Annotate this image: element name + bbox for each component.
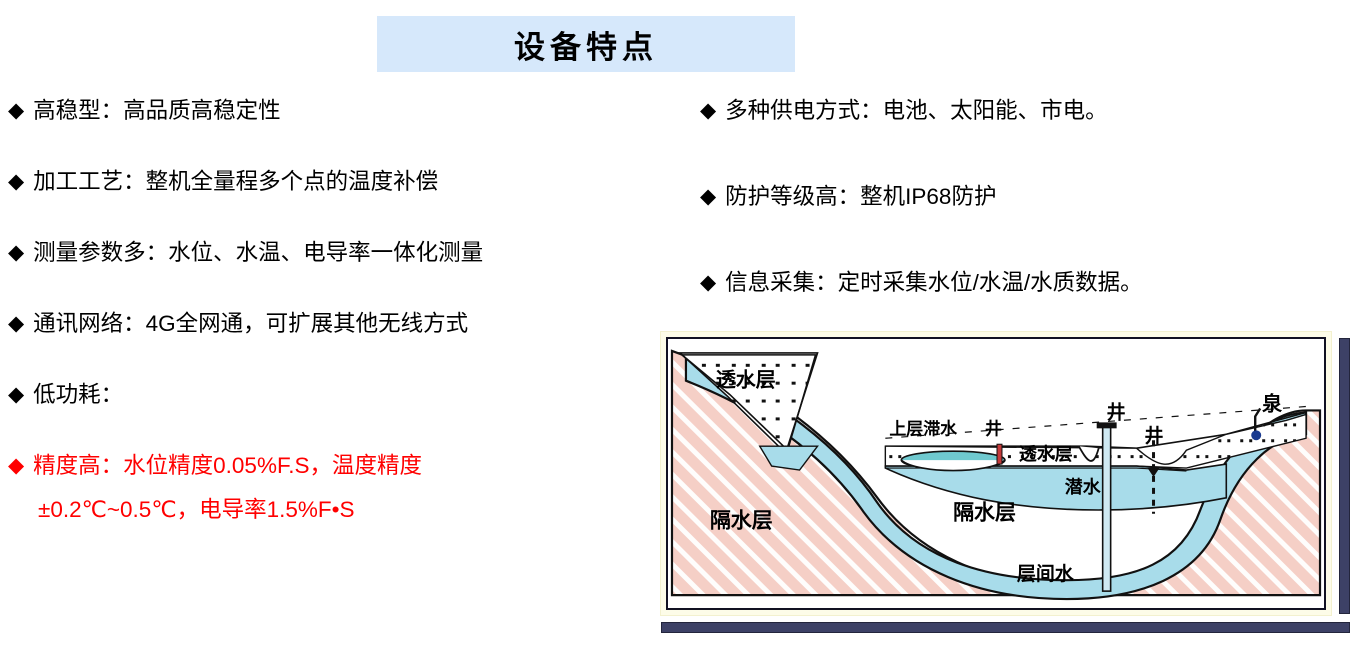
bullet-item-highlight: ◆ 精度高：水位精度0.05%F.S，温度精度 bbox=[8, 451, 658, 481]
label-well-right: 井 bbox=[1145, 425, 1164, 447]
diamond-bullet-icon: ◆ bbox=[8, 96, 24, 126]
label-aquiclude-mid: 隔水层 bbox=[953, 501, 1016, 525]
right-bullet-column: ◆ 多种供电方式：电池、太阳能、市电。 ◆ 防护等级高：整机IP68防护 ◆ 信… bbox=[700, 96, 1350, 354]
diagram-bottom-accent-bar bbox=[661, 622, 1350, 633]
groundwater-diagram: 透水层 上层滞水 井 透水层 潜水 井 井 泉 隔水层 隔水层 层间水 bbox=[666, 337, 1326, 610]
bullet-label: 测量参数多：水位、水温、电导率一体化测量 bbox=[33, 238, 483, 268]
bullet-label: 通讯网络：4G全网通，可扩展其他无线方式 bbox=[33, 309, 468, 339]
label-interlayer-water: 层间水 bbox=[1017, 563, 1075, 585]
diamond-bullet-icon: ◆ bbox=[700, 96, 716, 126]
diamond-bullet-icon: ◆ bbox=[8, 238, 24, 268]
bullet-item: ◆ 防护等级高：整机IP68防护 bbox=[700, 182, 1350, 212]
label-spring: 泉 bbox=[1261, 393, 1283, 416]
bullet-label: 信息采集：定时采集水位/水温/水质数据。 bbox=[725, 268, 1143, 298]
label-permeable-mid: 透水层 bbox=[1019, 443, 1073, 465]
label-well-left: 井 bbox=[985, 418, 1002, 438]
bullet-continuation-label: ±0.2℃~0.5℃，电导率1.5%F•S bbox=[38, 495, 658, 525]
bullet-item: ◆ 高稳型：高品质高稳定性 bbox=[8, 96, 658, 126]
diamond-bullet-icon: ◆ bbox=[700, 268, 716, 298]
label-perched-water: 上层滞水 bbox=[889, 418, 958, 438]
bullet-label: 加工工艺：整机全量程多个点的温度补偿 bbox=[33, 167, 438, 197]
groundwater-diagram-frame: 透水层 上层滞水 井 透水层 潜水 井 井 泉 隔水层 隔水层 层间水 bbox=[660, 331, 1332, 616]
bullet-label: 防护等级高：整机IP68防护 bbox=[725, 182, 996, 212]
slide-root: 设备特点 ◆ 高稳型：高品质高稳定性 ◆ 加工工艺：整机全量程多个点的温度补偿 … bbox=[0, 0, 1368, 648]
bullet-item: ◆ 通讯网络：4G全网通，可扩展其他无线方式 bbox=[8, 309, 658, 339]
left-bullet-column: ◆ 高稳型：高品质高稳定性 ◆ 加工工艺：整机全量程多个点的温度补偿 ◆ 测量参… bbox=[8, 96, 658, 525]
groundwater-cross-section-svg: 透水层 上层滞水 井 透水层 潜水 井 井 泉 隔水层 隔水层 层间水 bbox=[668, 339, 1324, 608]
label-aquiclude-left: 隔水层 bbox=[710, 509, 773, 533]
bullet-item: ◆ 多种供电方式：电池、太阳能、市电。 bbox=[700, 96, 1350, 126]
bullet-item: ◆ 信息采集：定时采集水位/水温/水质数据。 bbox=[700, 268, 1350, 298]
diamond-bullet-icon: ◆ bbox=[8, 309, 24, 339]
label-well-center: 井 bbox=[1107, 401, 1126, 423]
bullet-label: 低功耗： bbox=[33, 380, 123, 410]
diagram-right-accent-bar bbox=[1339, 338, 1350, 614]
bullet-label: 高稳型：高品质高稳定性 bbox=[33, 96, 281, 126]
bullet-label: 精度高：水位精度0.05%F.S，温度精度 bbox=[33, 451, 422, 481]
page-title: 设备特点 bbox=[514, 22, 658, 67]
diamond-bullet-icon: ◆ bbox=[700, 182, 716, 212]
bullet-item: ◆ 加工工艺：整机全量程多个点的温度补偿 bbox=[8, 167, 658, 197]
bullet-label: 多种供电方式：电池、太阳能、市电。 bbox=[725, 96, 1108, 126]
bullet-item: ◆ 测量参数多：水位、水温、电导率一体化测量 bbox=[8, 238, 658, 268]
title-band: 设备特点 bbox=[377, 16, 795, 72]
label-phreatic-water: 潜水 bbox=[1065, 476, 1102, 498]
diamond-bullet-icon: ◆ bbox=[8, 451, 24, 481]
bullet-item: ◆ 低功耗： bbox=[8, 380, 658, 410]
diamond-bullet-icon: ◆ bbox=[8, 380, 24, 410]
diamond-bullet-icon: ◆ bbox=[8, 167, 24, 197]
label-permeable-top-left: 透水层 bbox=[716, 369, 776, 392]
